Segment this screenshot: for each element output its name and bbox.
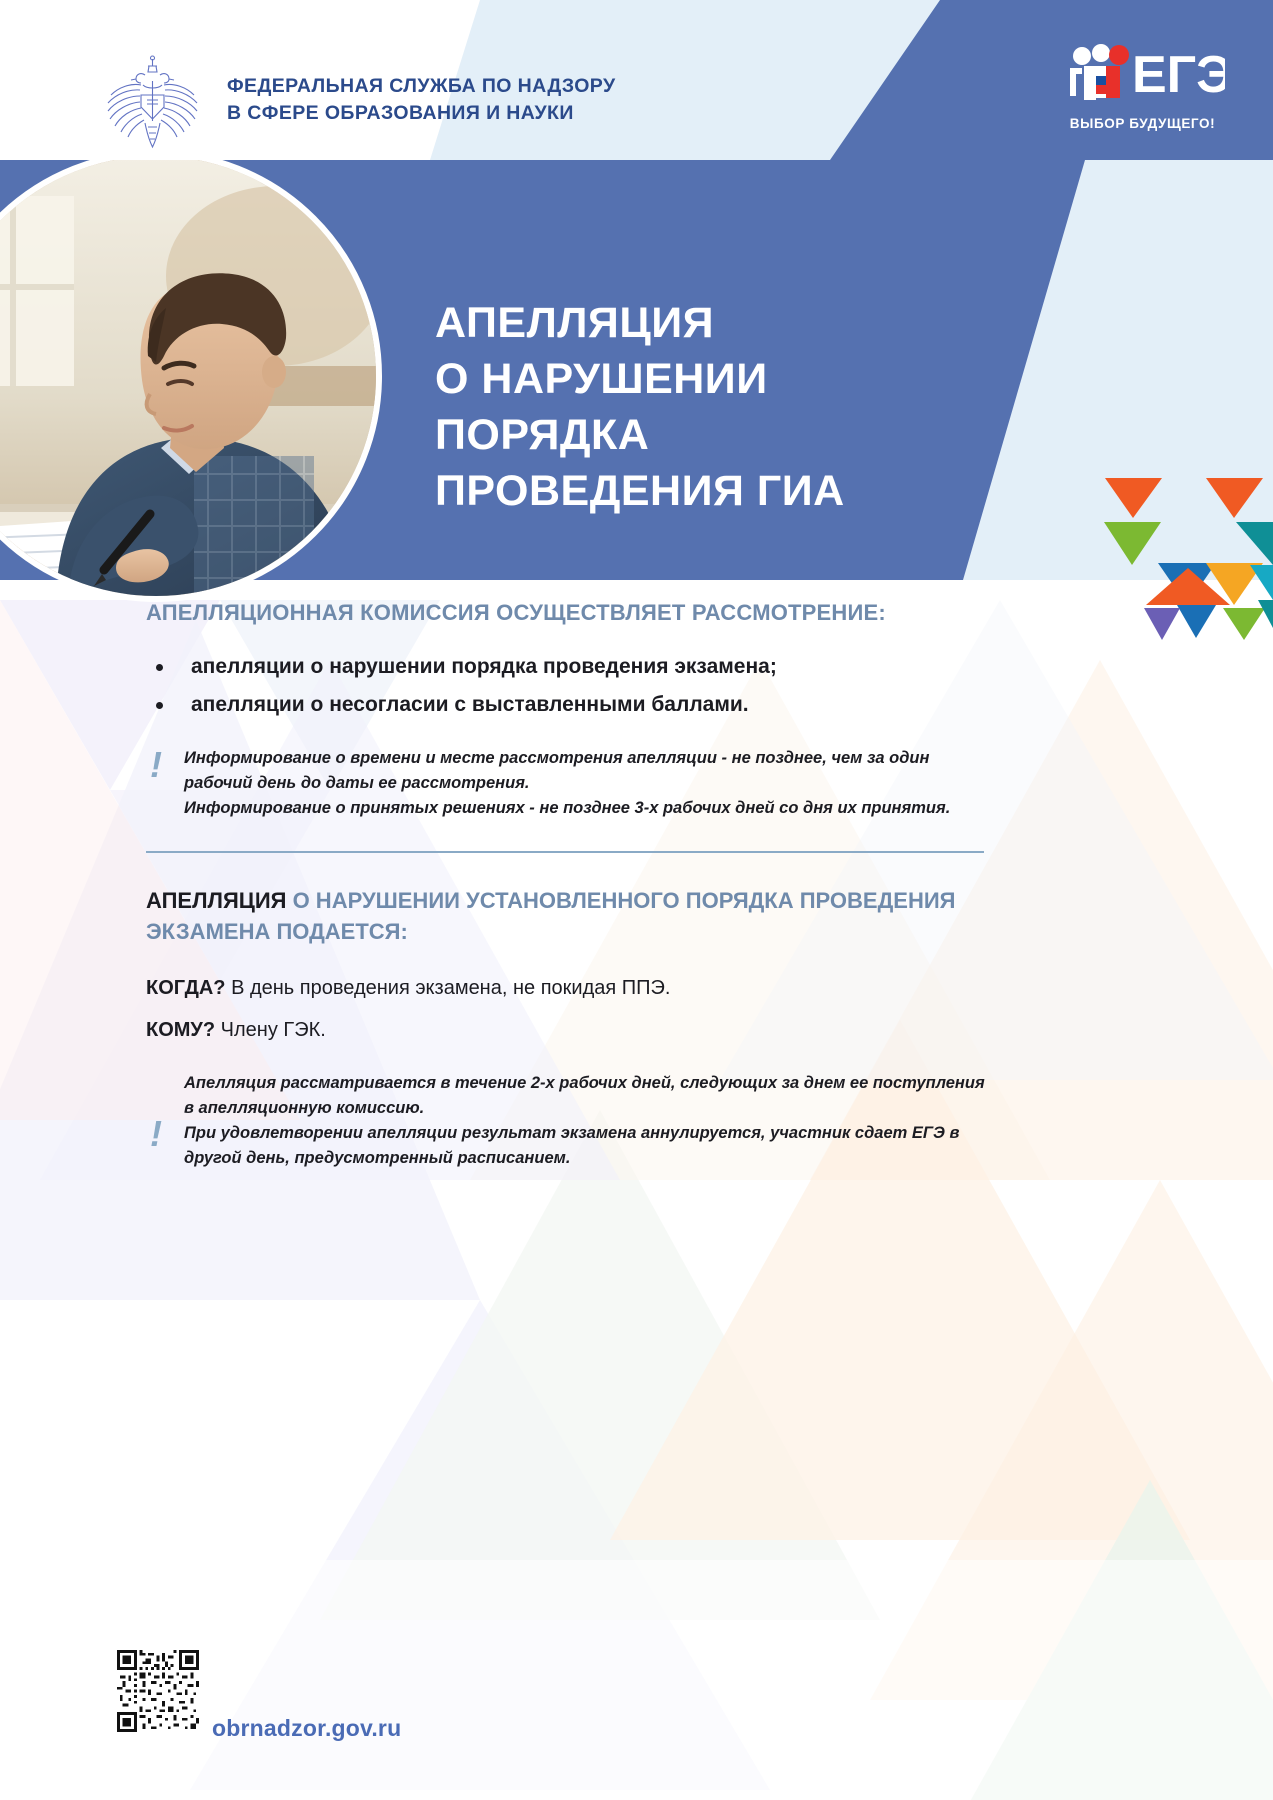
when-text: В день проведения экзамена, не покидая П… (226, 977, 671, 999)
when-label: КОГДА? (146, 977, 226, 999)
hero-title: АПЕЛЛЯЦИЯ О НАРУШЕНИИ ПОРЯДКА ПРОВЕДЕНИЯ… (435, 295, 845, 519)
qr-code[interactable] (117, 1650, 199, 1732)
hero-title-line4: ПРОВЕДЕНИЯ ГИА (435, 463, 845, 519)
section1-bullet-list: апелляции о нарушении порядка проведения… (146, 648, 1273, 724)
hero-title-line3: ПОРЯДКА (435, 407, 845, 463)
page-header: ФЕДЕРАЛЬНАЯ СЛУЖБА ПО НАДЗОРУ В СФЕРЕ ОБ… (0, 0, 1273, 160)
agency-name-line1: ФЕДЕРАЛЬНАЯ СЛУЖБА ПО НАДЗОРУ (227, 73, 616, 100)
hero-title-line1: АПЕЛЛЯЦИЯ (435, 295, 845, 351)
when-row: КОГДА? В день проведения экзамена, не по… (146, 973, 1273, 1003)
section1-note-line1: Информирование о времени и месте рассмот… (184, 746, 994, 796)
section2-qa: КОГДА? В день проведения экзамена, не по… (146, 973, 1273, 1045)
exclamation-icon: ! (150, 748, 162, 782)
hero-banner: АПЕЛЛЯЦИЯ О НАРУШЕНИИ ПОРЯДКА ПРОВЕДЕНИЯ… (0, 160, 1273, 580)
agency-name-line2: В СФЕРЕ ОБРАЗОВАНИЯ И НАУКИ (227, 100, 616, 127)
hero-title-line2: О НАРУШЕНИИ (435, 351, 845, 407)
section1-note-line2: Информирование о принятых решениях - не … (184, 796, 994, 821)
ege-logo: ЕГЭ ВЫБОР БУДУЩЕГО! (1060, 38, 1225, 131)
student-photo-illustration (0, 156, 376, 596)
agency-name: ФЕДЕРАЛЬНАЯ СЛУЖБА ПО НАДЗОРУ В СФЕРЕ ОБ… (227, 73, 616, 127)
list-item: апелляции о несогласии с выставленными б… (146, 686, 1273, 724)
ege-logo-mark: ЕГЭ (1060, 38, 1225, 110)
list-item: апелляции о нарушении порядка проведения… (146, 648, 1273, 686)
section2-heading-bold: АПЕЛЛЯЦИЯ (146, 888, 293, 913)
whom-row: КОМУ? Члену ГЭК. (146, 1015, 1273, 1045)
section2-note-line2: При удовлетворении апелляции результат э… (184, 1121, 994, 1171)
ege-tagline: ВЫБОР БУДУЩЕГО! (1060, 116, 1225, 131)
page-footer: obrnadzor.gov.ru (0, 1620, 1273, 1800)
website-link[interactable]: obrnadzor.gov.ru (212, 1715, 401, 1742)
whom-label: КОМУ? (146, 1019, 215, 1041)
section-divider (146, 851, 984, 853)
section2-note-line1: Апелляция рассматривается в течение 2-х … (184, 1071, 994, 1121)
ege-letters: ЕГЭ (1132, 46, 1225, 104)
section2-note: ! Апелляция рассматривается в течение 2-… (146, 1071, 994, 1171)
section2-heading: АПЕЛЛЯЦИЯ О НАРУШЕНИИ УСТАНОВЛЕННОГО ПОР… (146, 885, 976, 947)
poster: ФЕДЕРАЛЬНАЯ СЛУЖБА ПО НАДЗОРУ В СФЕРЕ ОБ… (0, 0, 1273, 1800)
exclamation-icon: ! (150, 1117, 162, 1151)
whom-text: Члену ГЭК. (215, 1019, 326, 1041)
section1-note: ! Информирование о времени и месте рассм… (146, 746, 994, 821)
rosobrnadzor-emblem-icon (95, 55, 210, 150)
main-content: АПЕЛЛЯЦИОННАЯ КОМИССИЯ ОСУЩЕСТВЛЯЕТ РАСС… (0, 600, 1273, 1171)
qr-code-icon (117, 1650, 199, 1732)
section1-heading: АПЕЛЛЯЦИОННАЯ КОМИССИЯ ОСУЩЕСТВЛЯЕТ РАСС… (146, 600, 1273, 626)
